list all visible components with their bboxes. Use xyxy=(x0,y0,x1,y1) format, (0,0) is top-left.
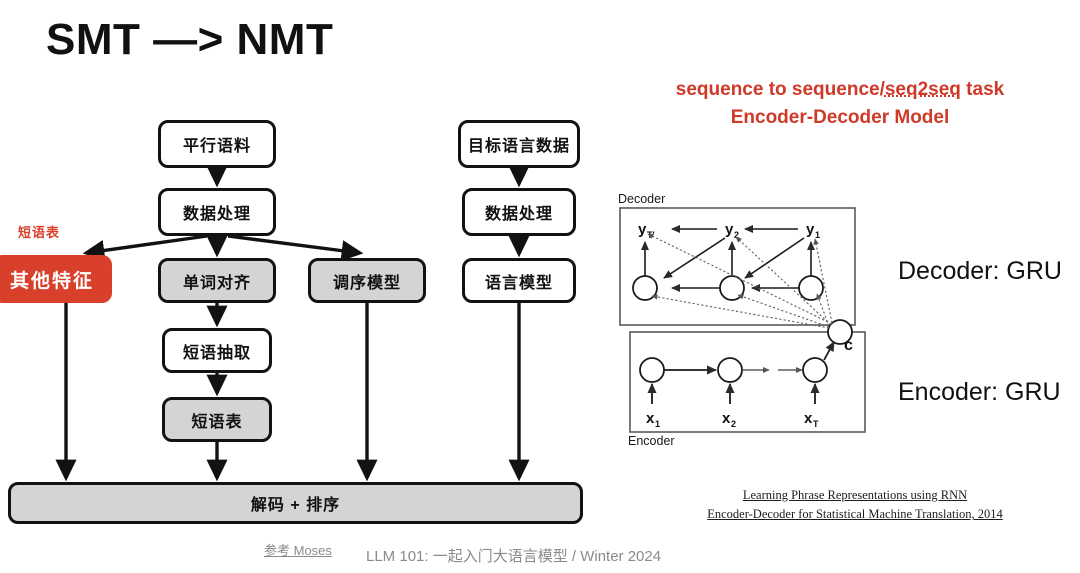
decoder-output-y1: y xyxy=(806,221,815,238)
encoder-frame-label: Encoder xyxy=(628,434,675,448)
decoder-output-yT: y xyxy=(638,221,647,238)
slide-footer: LLM 101: 一起入门大语言模型 / Winter 2024 xyxy=(366,545,661,566)
encoder-input-xT: x xyxy=(804,410,813,427)
decoder-hidden-node-1 xyxy=(633,276,657,300)
encoder-decoder-figure: Decoder Encoder y T' y 2 y 1 x 1 x 2 x T… xyxy=(612,192,887,467)
seq2seq-heading: sequence to sequence/seq2seq task Encode… xyxy=(620,76,1060,131)
encoder-hidden-node-1 xyxy=(640,358,664,382)
decoder-frame-label: Decoder xyxy=(618,192,665,206)
node-word-alignment[interactable]: 单词对齐 xyxy=(158,258,276,303)
node-language-model[interactable]: 语言模型 xyxy=(462,258,576,303)
paper-citation-line2: Encoder-Decoder for Statistical Machine … xyxy=(660,505,1050,524)
paper-citation-link[interactable]: Learning Phrase Representations using RN… xyxy=(660,486,1050,525)
node-parallel-corpus[interactable]: 平行语料 xyxy=(158,120,276,168)
decoder-output-y1-sub: 1 xyxy=(815,230,820,240)
heading-text-seq2seq: seq2seq xyxy=(885,79,961,100)
encoder-input-x2-sub: 2 xyxy=(731,419,736,429)
encoder-input-x1: x xyxy=(646,410,655,427)
encoder-input-xT-sub: T xyxy=(813,419,819,429)
slide-canvas: SMT —> NMT xyxy=(0,0,1080,573)
encoder-hidden-node-2 xyxy=(718,358,742,382)
encoder-input-x1-sub: 1 xyxy=(655,419,660,429)
decoder-output-y2: y xyxy=(725,221,734,238)
node-other-features[interactable]: 其他特征 xyxy=(0,255,112,303)
encoder-input-x2: x xyxy=(722,410,731,427)
node-phrase-extraction[interactable]: 短语抽取 xyxy=(162,328,272,373)
node-data-process-2[interactable]: 数据处理 xyxy=(462,188,576,236)
node-reorder-model[interactable]: 调序模型 xyxy=(308,258,426,303)
node-target-language-data[interactable]: 目标语言数据 xyxy=(458,120,580,168)
heading-text-a: sequence to sequence/ xyxy=(676,79,885,100)
node-decode-rerank[interactable]: 解码 + 排序 xyxy=(8,482,583,524)
encoder-gru-label: Encoder: GRU xyxy=(898,378,1061,407)
node-phrase-table[interactable]: 短语表 xyxy=(162,397,272,442)
node-data-process-1[interactable]: 数据处理 xyxy=(158,188,276,236)
decoder-output-y2-sub: 2 xyxy=(734,230,739,240)
seq2seq-heading-line1: sequence to sequence/seq2seq task xyxy=(676,79,1004,100)
decoder-output-yT-sub: T' xyxy=(647,230,655,240)
reference-moses-link[interactable]: 参考 Moses xyxy=(264,540,332,559)
encoder-hidden-node-3 xyxy=(803,358,827,382)
smt-flowchart: 短语表 平行语料 数据处理 其他特征 单词对齐 调序模型 短语抽取 短语表 目标… xyxy=(0,0,600,573)
paper-citation-line1: Learning Phrase Representations using RN… xyxy=(660,486,1050,505)
phrase-table-annotation: 短语表 xyxy=(18,222,60,241)
heading-text-c: task xyxy=(961,79,1004,100)
decoder-hidden-node-3 xyxy=(799,276,823,300)
decoder-gru-label: Decoder: GRU xyxy=(898,257,1062,286)
seq2seq-heading-line2: Encoder-Decoder Model xyxy=(620,104,1060,132)
